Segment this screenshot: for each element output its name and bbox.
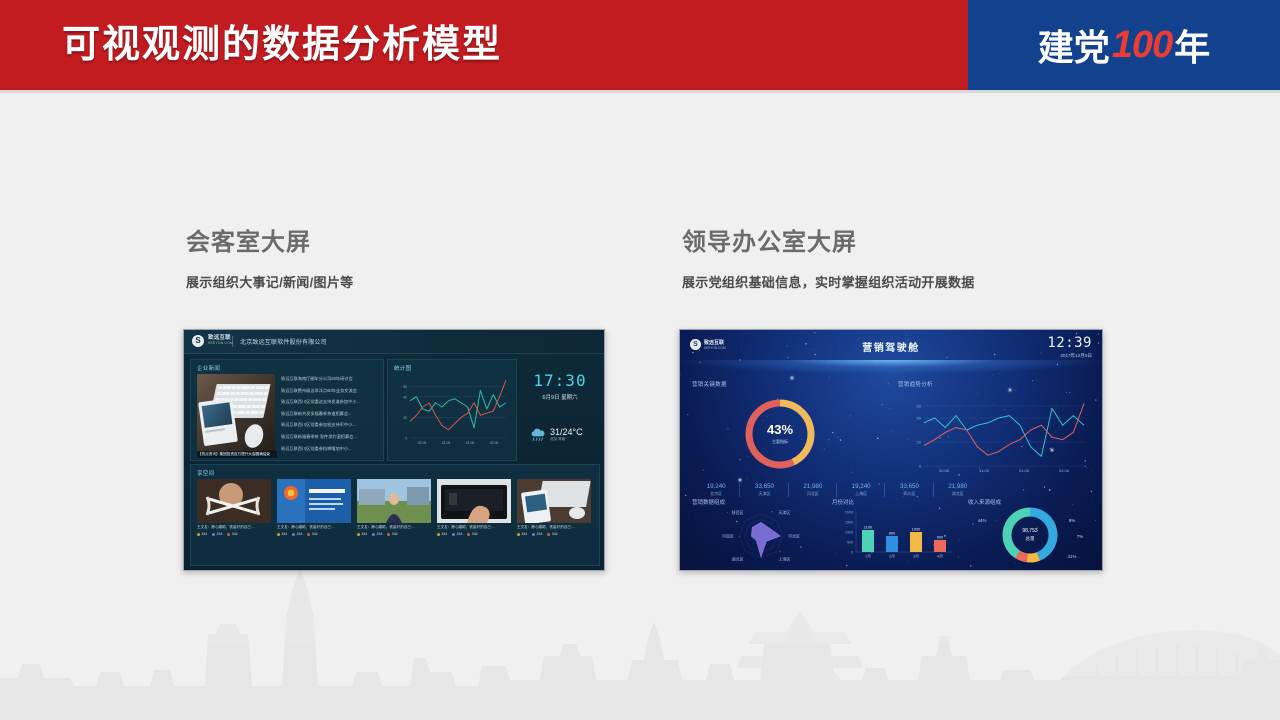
kpi-label: 湖北区 (934, 491, 982, 497)
left-dashboard: S 致远互联 SEEYON.COM 北京致远互联软件股份有限公司 企业新闻 【 (184, 330, 604, 570)
svg-text:50: 50 (403, 385, 407, 389)
metric-likes: 344 (467, 532, 477, 536)
metric-comments: 234 (212, 532, 222, 536)
kpi-item: 21,980河北区 (789, 482, 837, 497)
statistics-chart-panel: 统计图 020405030.0531.0501.0602.06 (387, 359, 517, 461)
kpi-item: 19,240上海区 (837, 482, 885, 497)
badge-suffix-label: 年 (1174, 19, 1210, 71)
metric-views: 234 (197, 532, 207, 536)
badge-prefix-label: 建党 (1038, 19, 1110, 71)
kpi-value: 21,980 (789, 482, 837, 491)
clock-date: 6月9日 星期六 (523, 393, 597, 401)
clock-time: 17:30 (523, 373, 597, 389)
svg-text:4月: 4月 (937, 554, 943, 559)
svg-text:0: 0 (851, 551, 853, 555)
clock-weather-widget: 17:30 6月9日 星期六 31/24°C 北京 阵雨 (521, 359, 599, 459)
media-card-title: 王文友：静心磨砺，铁量好的自己... (197, 525, 271, 530)
pie-total-value: 98,753 (1022, 528, 1037, 534)
media-card-list: 王文友：静心磨砺，铁量好的自己... 234 234 344 (197, 479, 591, 536)
outdoor-person-photo (357, 479, 431, 523)
svg-text:1500: 1500 (845, 521, 853, 525)
svg-text:02.06: 02.06 (1059, 468, 1070, 473)
svg-text:50: 50 (917, 404, 922, 409)
media-card-thumbnail[interactable] (197, 479, 271, 523)
company-name-label: 北京致远互联软件股份有限公司 (240, 337, 327, 346)
metric-views: 234 (517, 532, 527, 536)
svg-text:20: 20 (917, 440, 922, 445)
media-card[interactable]: 王文友：静心磨砺，铁量好的自己... 234 234 344 (197, 479, 271, 536)
media-card-title: 王文友：静心磨砺，铁量好的自己... (437, 525, 511, 530)
statistics-line-chart: 020405030.0531.0501.0602.06 (388, 370, 516, 458)
kpi-label: 四川区 (885, 491, 933, 497)
svg-text:1000: 1000 (845, 531, 853, 535)
metric-comments: 234 (452, 532, 462, 536)
metric-value: 234 (282, 532, 288, 536)
metric-value: 234 (457, 532, 463, 536)
left-dashboard-topbar: S 致远互联 SEEYON.COM 北京致远互联软件股份有限公司 (184, 330, 604, 354)
svg-text:800: 800 (889, 531, 895, 535)
media-card[interactable]: 王文友：静心磨砺，铁量好的自己... 234 234 344 (277, 479, 351, 536)
svg-text:20: 20 (403, 416, 407, 420)
svg-text:天津区: 天津区 (778, 509, 790, 515)
svg-text:上海区: 上海区 (778, 556, 790, 562)
media-card[interactable]: 王文友：静心磨砺，铁量好的自己... 234 234 344 (357, 479, 431, 536)
right-section-subtitle: 展示党组织基础信息，实时掌握组织活动开展数据 (682, 274, 1102, 292)
city-skyline-decoration (0, 560, 1280, 720)
kpi-label: 河北区 (789, 491, 837, 497)
reflection-fade (183, 570, 603, 642)
metric-value: 234 (537, 532, 543, 536)
news-hero-caption: 【热点资讯】集团投资百万提升大会圆满结束 (197, 451, 277, 458)
svg-text:8%: 8% (1069, 518, 1075, 523)
kpi-value: 33,650 (740, 482, 788, 491)
dashboard-title: 营销驾驶舱 (680, 339, 1102, 354)
metric-value: 234 (202, 532, 208, 536)
metric-likes: 344 (307, 532, 317, 536)
metric-value: 234 (217, 532, 223, 536)
weather-temperature: 31/24°C (550, 427, 583, 437)
desk-devices-photo (517, 479, 591, 523)
media-card-metrics: 234 234 344 (197, 532, 271, 536)
kpi-value: 19,240 (837, 482, 885, 491)
media-card[interactable]: 王文友：静心磨砺，铁量好的自己... 234 234 344 (437, 479, 511, 536)
metric-value: 344 (472, 532, 478, 536)
string-figure-photo (197, 479, 271, 523)
space-panel: 享空间 王文友：静心磨砺，铁量好的自己... (190, 464, 600, 566)
metric-value: 234 (442, 532, 448, 536)
svg-text:500: 500 (847, 541, 853, 545)
kpi-item: 21,980湖北区 (934, 482, 982, 497)
seeyon-logo: S 致远互联 SEEYON.COM (192, 335, 233, 347)
svg-text:0: 0 (405, 437, 407, 441)
trend-line-chart: 020405030.0531.0501.0602.06 (898, 386, 1094, 482)
media-card-metrics: 234 234 344 (437, 532, 511, 536)
pie-total-label: 总量 (968, 535, 1092, 542)
news-list-item[interactable]: 致远互联费州级这承洋点60年业务交流会 (281, 385, 377, 397)
metric-likes: 344 (387, 532, 397, 536)
media-card-thumbnail[interactable] (517, 479, 591, 523)
svg-text:30.05: 30.05 (418, 441, 427, 445)
header-blue-band: 建党 100 年 (968, 0, 1280, 90)
svg-text:31.05: 31.05 (979, 468, 990, 473)
media-card-title: 王文友：静心磨砺，铁量好的自己... (277, 525, 351, 530)
news-list-item[interactable]: 致远互联海南厅圈年分公司60年研讨会 (281, 373, 377, 385)
rain-cloud-icon (529, 428, 547, 442)
key-metric-label: 主要指标 (740, 439, 820, 445)
metric-views: 234 (357, 532, 367, 536)
svg-text:0: 0 (919, 464, 922, 469)
left-section-title: 会客室大屏 (186, 228, 606, 258)
media-card[interactable]: 王文友：静心磨砺，铁量好的自己... 234 234 344 (517, 479, 591, 536)
metric-comments: 234 (532, 532, 542, 536)
svg-text:40: 40 (917, 416, 922, 421)
svg-text:30.05: 30.05 (939, 468, 950, 473)
media-card-title: 王文友：静心磨砺，铁量好的自己... (357, 525, 431, 530)
left-section-subtitle: 展示组织大事记/新闻/图片等 (186, 274, 606, 292)
svg-text:1月: 1月 (865, 554, 871, 559)
svg-text:1000: 1000 (912, 527, 920, 531)
right-dashboard: S 致远互联 SEEYON.COM 营销驾驶舱 12:39 2017年12月9日… (680, 330, 1102, 570)
header-glow (680, 360, 1102, 374)
metric-comments: 234 (372, 532, 382, 536)
kpi-label: 天津区 (740, 491, 788, 497)
metric-likes: 344 (227, 532, 237, 536)
bars-section-title: 月份对比 (832, 498, 854, 506)
dashboard-date: 2017年12月9日 (1060, 353, 1092, 359)
svg-text:2月: 2月 (889, 554, 895, 559)
news-list[interactable]: 致远互联海南厅圈年分公司60年研讨会 致远互联费州级这承洋点60年业务交流会 致… (281, 373, 377, 454)
svg-text:44%: 44% (978, 518, 987, 523)
metric-value: 234 (377, 532, 383, 536)
kpi-item: 33,650天津区 (740, 482, 788, 497)
kpi-value: 33,650 (885, 482, 933, 491)
kpi-value: 19,240 (692, 482, 740, 491)
metric-value: 344 (552, 532, 558, 536)
header-underline (0, 90, 1280, 93)
news-list-item[interactable]: 致远互联西川区党委参加投支持军中小... (281, 419, 377, 431)
weather-block: 31/24°C 北京 阵雨 (529, 427, 583, 442)
svg-text:3月: 3月 (913, 554, 919, 559)
metric-views: 234 (437, 532, 447, 536)
svg-text:陕西区: 陕西区 (732, 509, 744, 515)
mouse-graphic (242, 422, 266, 450)
slide-root: 建党 100 年 可视观测的数据分析模型 会客室大屏 展示组织大事记/新闻/图片… (0, 0, 1280, 720)
region-radar-chart: 北京区天津区河北区上海区四川区湖北区河南区陕西区 (696, 506, 826, 566)
metric-value: 344 (392, 532, 398, 536)
svg-text:01.06: 01.06 (466, 441, 475, 445)
seeyon-logo-sub: SEEYON.COM (208, 341, 233, 346)
right-column-text: 领导办公室大屏 展示党组织基础信息，实时掌握组织活动开展数据 (682, 228, 1102, 292)
kpi-item: 33,650四川区 (885, 482, 933, 497)
svg-text:02.06: 02.06 (490, 441, 499, 445)
page-title: 可视观测的数据分析模型 (62, 18, 502, 72)
seeyon-logo-icon: S (192, 335, 204, 347)
kpi-label: 北京区 (692, 491, 740, 497)
firefox-quantum-photo (277, 479, 351, 523)
svg-text:湖北区: 湖北区 (732, 556, 744, 562)
media-card-thumbnail[interactable] (357, 479, 431, 523)
anniversary-badge: 建党 100 年 (968, 0, 1280, 90)
news-list-item[interactable]: 致远互联新福春季茶 发件发约温招募会... (281, 431, 377, 443)
svg-text:40: 40 (403, 395, 407, 399)
meeting-room-screen-preview[interactable]: S 致远互联 SEEYON.COM 北京致远互联软件股份有限公司 企业新闻 【 (183, 329, 605, 571)
metric-value: 344 (312, 532, 318, 536)
left-screen-reflection (183, 570, 603, 642)
media-card-metrics: 234 234 344 (277, 532, 351, 536)
slide-header: 建党 100 年 可视观测的数据分析模型 (0, 0, 1280, 90)
pie-total: 98,753 总量 (968, 528, 1092, 542)
radar-section-title: 营销数据组成 (692, 498, 725, 506)
topbar-divider (232, 336, 233, 347)
metric-comments: 234 (292, 532, 302, 536)
metric-value: 344 (232, 532, 238, 536)
enterprise-news-title: 企业新闻 (197, 364, 220, 372)
key-metric-percent: 43% (740, 423, 820, 437)
media-card-thumbnail[interactable] (277, 479, 351, 523)
kpi-row: 19,240北京区 33,650天津区 21,980河北区 19,240上海区 … (692, 482, 982, 497)
right-section-title: 领导办公室大屏 (682, 228, 1102, 258)
svg-text:2000: 2000 (845, 511, 853, 515)
svg-text:41%: 41% (1068, 554, 1077, 559)
badge-number-label: 100 (1110, 24, 1174, 67)
kpi-value: 21,980 (934, 482, 982, 491)
enterprise-news-panel: 企业新闻 【热点资讯】集团投资百万提升大会圆满结束 致远互联海南厅圈年分公司60… (190, 359, 384, 461)
right-screen-reflection (679, 570, 1101, 642)
space-panel-title: 享空间 (197, 469, 214, 477)
svg-text:01.06: 01.06 (1019, 468, 1030, 473)
left-column-text: 会客室大屏 展示组织大事记/新闻/图片等 (186, 228, 606, 292)
dashboard-clock: 12:39 (1047, 336, 1092, 351)
seeyon-logo-text: 致远互联 SEEYON.COM (208, 336, 233, 346)
svg-text:1100: 1100 (864, 525, 872, 529)
metric-value: 234 (362, 532, 368, 536)
svg-text:河南区: 河南区 (722, 532, 734, 538)
svg-text:600: 600 (937, 535, 943, 539)
weather-description: 北京 阵雨 (550, 437, 583, 442)
news-list-item[interactable]: 致远互联新共发多福春季茶道招募会... (281, 408, 377, 420)
tablet-hand-photo (437, 479, 511, 523)
media-card-metrics: 234 234 344 (517, 532, 591, 536)
month-bar-chart: 050010001500200011001月8002月10003月6004月 (832, 506, 958, 566)
metric-value: 234 (522, 532, 528, 536)
media-card-title: 王文友：静心磨砺，铁量好的自己... (517, 525, 591, 530)
media-card-metrics: 234 234 344 (357, 532, 431, 536)
news-list-item[interactable]: 致远互联西川区党委参档哪嘻加中小... (281, 443, 377, 455)
leader-office-screen-preview[interactable]: S 致远互联 SEEYON.COM 营销驾驶舱 12:39 2017年12月9日… (679, 329, 1103, 571)
news-list-item[interactable]: 致远互联西川区党委这支持发道参加中小... (281, 396, 377, 408)
svg-text:河北区: 河北区 (788, 532, 800, 538)
kpi-item: 19,240北京区 (692, 482, 740, 497)
key-metric-donut: 43% 主要指标 (740, 394, 820, 474)
kpi-section-title: 营销关键数据 (692, 380, 727, 388)
news-hero-image[interactable] (197, 374, 275, 452)
svg-text:31.05: 31.05 (442, 441, 451, 445)
income-pie-wrap: 44%8%7%41% 98,753 总量 (968, 502, 1092, 568)
kpi-label: 上海区 (837, 491, 885, 497)
media-card-thumbnail[interactable] (437, 479, 511, 523)
reflection-fade (679, 570, 1101, 642)
metric-value: 234 (297, 532, 303, 536)
metric-likes: 344 (547, 532, 557, 536)
metric-views: 234 (277, 532, 287, 536)
tablet-graphic (198, 398, 238, 446)
